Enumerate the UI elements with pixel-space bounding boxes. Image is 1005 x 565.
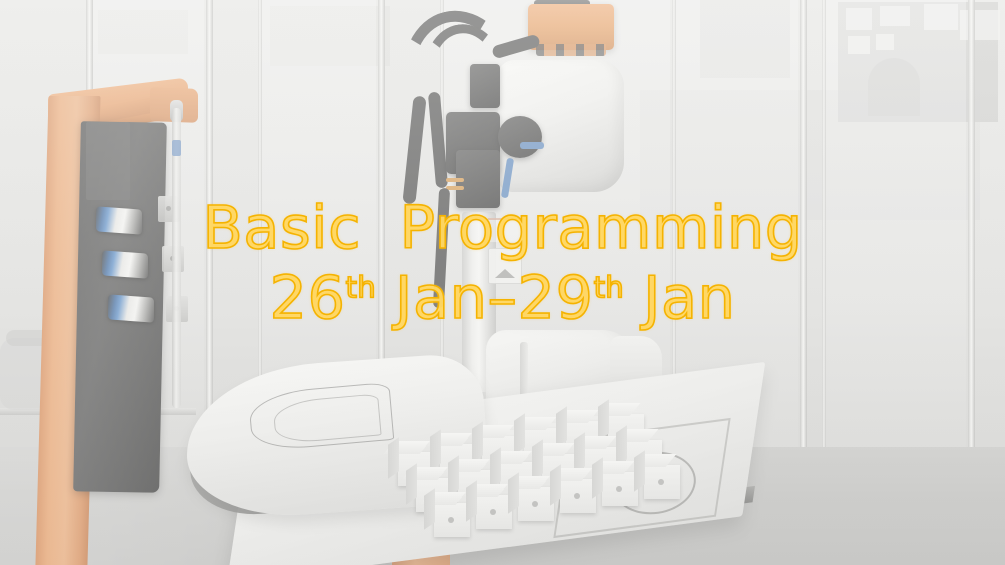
reflection-highlight [880,6,910,26]
metal-cube [644,465,680,499]
cube-side-face [634,450,645,491]
cube-center-hole [490,509,496,515]
metal-cube [518,487,554,521]
robot-nameplate [488,218,524,242]
reflection-highlight [846,8,872,30]
reflection-highlight [876,34,894,50]
robot-orange-wire [446,178,464,182]
cube-side-face [406,463,417,504]
cube-side-face [424,488,435,529]
robot-blue-cable [520,142,544,149]
metal-cube [560,479,596,513]
cube-side-face [556,406,567,447]
cube-side-face [550,464,561,505]
metal-cube [434,503,470,537]
title-slide: Basic Programming 26th Jan–29th Jan [0,0,1005,565]
control-panel-notch [86,122,130,200]
robot-cable-connector [498,116,542,158]
reflection-highlight [960,10,1000,40]
cube-center-hole [574,493,580,499]
robot-module-ribs [536,44,606,56]
cube-side-face [592,457,603,498]
reflection-shape [98,10,188,54]
metal-cube [602,472,638,506]
cube-center-hole [532,501,538,507]
reflection-highlight [924,4,958,30]
reflection-shape [700,0,790,78]
cube-side-face [472,421,483,462]
tube-blue-marker [172,140,181,156]
indicator-lamp[interactable] [96,206,142,234]
cube-side-face [430,429,441,470]
cube-side-face [490,447,501,488]
cube-side-face [532,439,543,480]
cube-side-face [388,437,399,478]
indicator-lamp[interactable] [102,250,148,278]
cube-center-hole [616,486,622,492]
cube-side-face [448,455,459,496]
cube-side-face [514,413,525,454]
cube-side-face [508,472,519,513]
reflection-shape [270,6,390,66]
indicator-lamp[interactable] [108,294,154,322]
metal-cube [476,495,512,529]
robot-warning-label [488,248,522,284]
robot-cable-connector [470,64,500,108]
cube-side-face [598,399,609,440]
reflection-highlight [848,36,870,54]
background-photo [0,0,1005,565]
reflection-shape [640,90,980,220]
cube-side-face [466,480,477,521]
cube-center-hole [658,479,664,485]
cube-center-hole [448,517,454,523]
